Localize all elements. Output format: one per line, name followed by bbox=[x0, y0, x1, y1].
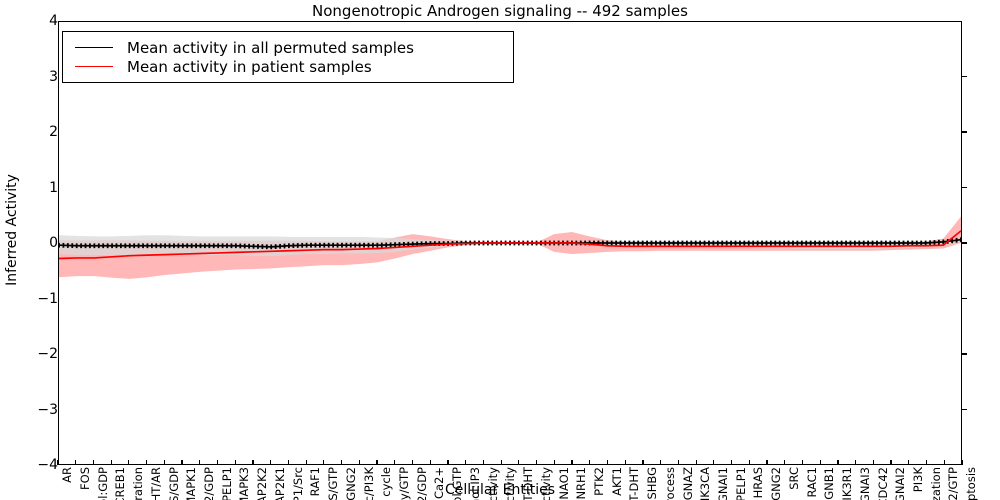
x-axis-tick-mark bbox=[642, 460, 643, 465]
x-axis-tick-mark bbox=[483, 460, 484, 465]
legend-swatch-patient bbox=[75, 66, 113, 67]
x-axis-tick-mark bbox=[146, 460, 147, 465]
legend-label-permuted: Mean activity in all permuted samples bbox=[127, 39, 414, 57]
x-axis-tick-mark bbox=[713, 460, 714, 465]
x-axis-tick-mark bbox=[660, 460, 661, 465]
x-axis-tick-mark bbox=[270, 460, 271, 465]
x-axis-tick-mark bbox=[890, 460, 891, 465]
x-axis-tick-mark bbox=[607, 460, 608, 465]
x-axis-tick-mark bbox=[518, 460, 519, 465]
x-axis-tick-mark bbox=[75, 460, 76, 465]
x-axis-tick-mark bbox=[288, 460, 289, 465]
x-axis-tick-mark bbox=[93, 460, 94, 465]
x-axis-tick-mark bbox=[235, 460, 236, 465]
legend-item-permuted: Mean activity in all permuted samples bbox=[71, 38, 503, 57]
x-axis-tick-mark bbox=[749, 460, 750, 465]
x-axis-tick-mark bbox=[589, 460, 590, 465]
x-axis-tick-mark bbox=[501, 460, 502, 465]
x-axis-tick-label: AR bbox=[62, 467, 74, 483]
x-axis-tick-mark bbox=[802, 460, 803, 465]
x-axis-tick-mark bbox=[447, 460, 448, 465]
x-axis-tick-mark bbox=[820, 460, 821, 465]
x-axis-tick-mark bbox=[412, 460, 413, 465]
legend-label-patient: Mean activity in patient samples bbox=[127, 58, 372, 76]
x-axis-tick-mark bbox=[855, 460, 856, 465]
x-axis-tick-mark bbox=[554, 460, 555, 465]
x-axis-tick-mark bbox=[430, 460, 431, 465]
x-axis-tick-mark bbox=[111, 460, 112, 465]
x-axis-tick-mark bbox=[252, 460, 253, 465]
chart-legend: Mean activity in all permuted samples Me… bbox=[62, 31, 514, 83]
x-axis-tick-mark bbox=[961, 460, 962, 465]
x-axis-tick-mark bbox=[625, 460, 626, 465]
x-axis-label: Cellular Entities bbox=[0, 482, 1000, 498]
chart-figure: Nongenotropic Androgen signaling -- 492 … bbox=[0, 0, 1000, 500]
x-axis-tick-mark bbox=[57, 460, 58, 465]
x-axis-tick-mark bbox=[908, 460, 909, 465]
x-axis-tick-mark bbox=[873, 460, 874, 465]
x-axis-tick-mark bbox=[766, 460, 767, 465]
x-axis-tick-mark bbox=[784, 460, 785, 465]
x-axis-tick-mark bbox=[164, 460, 165, 465]
legend-swatch-permuted bbox=[75, 47, 113, 48]
x-axis-tick-mark bbox=[465, 460, 466, 465]
legend-item-patient: Mean activity in patient samples bbox=[71, 57, 503, 76]
x-axis-tick-mark bbox=[181, 460, 182, 465]
x-axis-tick-mark bbox=[571, 460, 572, 465]
x-axis-tick-mark bbox=[394, 460, 395, 465]
x-axis-tick-mark bbox=[696, 460, 697, 465]
x-axis-tick-mark bbox=[536, 460, 537, 465]
x-axis-tick-mark bbox=[199, 460, 200, 465]
x-axis-tick-mark bbox=[837, 460, 838, 465]
x-axis-tick-mark bbox=[944, 460, 945, 465]
x-axis-tick-mark bbox=[306, 460, 307, 465]
x-axis-tick-mark bbox=[359, 460, 360, 465]
x-axis-tick-mark bbox=[323, 460, 324, 465]
x-axis-tick-mark bbox=[217, 460, 218, 465]
x-axis-tick-mark bbox=[731, 460, 732, 465]
x-axis-tick-mark bbox=[341, 460, 342, 465]
x-axis-tick-mark bbox=[376, 460, 377, 465]
x-axis-tick-mark bbox=[926, 460, 927, 465]
x-axis-tick-mark bbox=[128, 460, 129, 465]
x-axis-tick-mark bbox=[678, 460, 679, 465]
